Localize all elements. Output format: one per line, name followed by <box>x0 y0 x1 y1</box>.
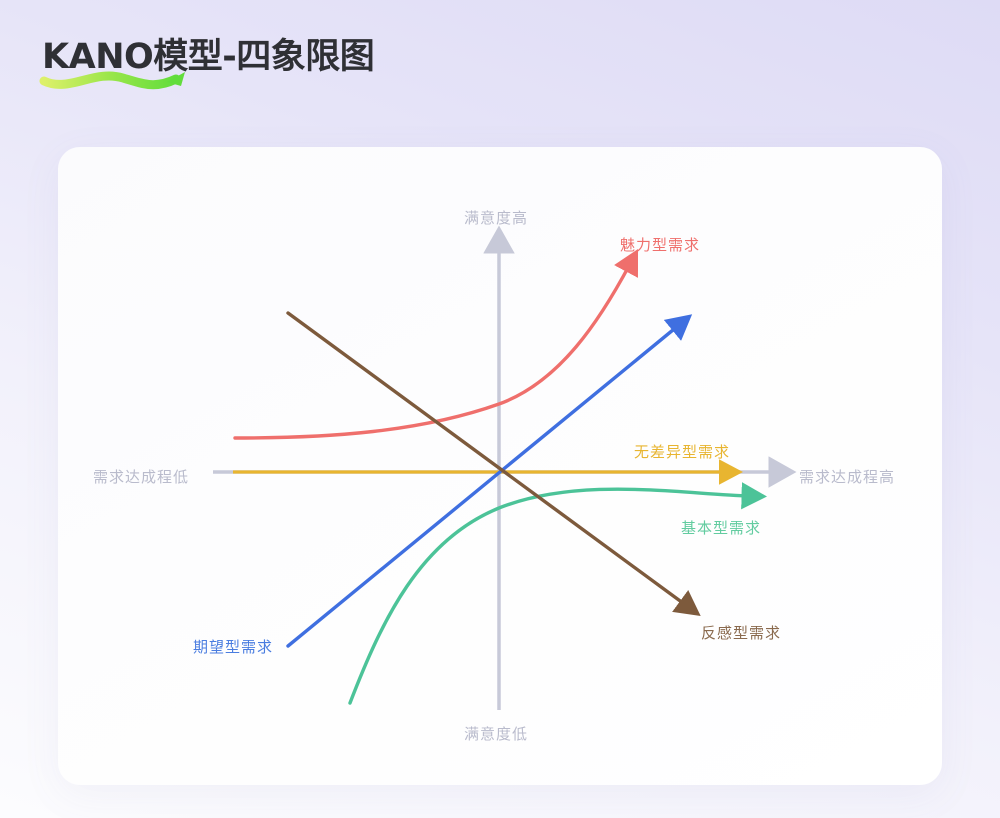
y-axis-label-high: 满意度高 <box>464 207 528 228</box>
series-label-basic: 基本型需求 <box>681 517 761 538</box>
series-label-performance: 期望型需求 <box>193 636 273 657</box>
series-label-attractive: 魅力型需求 <box>620 234 700 255</box>
x-axis-label-high: 需求达成程高 <box>799 466 895 487</box>
page-header: KANO模型-四象限图 <box>42 36 374 80</box>
x-axis-label-low: 需求达成程低 <box>93 466 189 487</box>
title-wrapper: KANO模型-四象限图 <box>42 36 374 80</box>
page-title: KANO模型-四象限图 <box>42 36 374 80</box>
series-label-indifferent: 无差异型需求 <box>634 441 730 462</box>
y-axis-label-low: 满意度低 <box>464 723 528 744</box>
series-label-reverse: 反感型需求 <box>701 622 781 643</box>
